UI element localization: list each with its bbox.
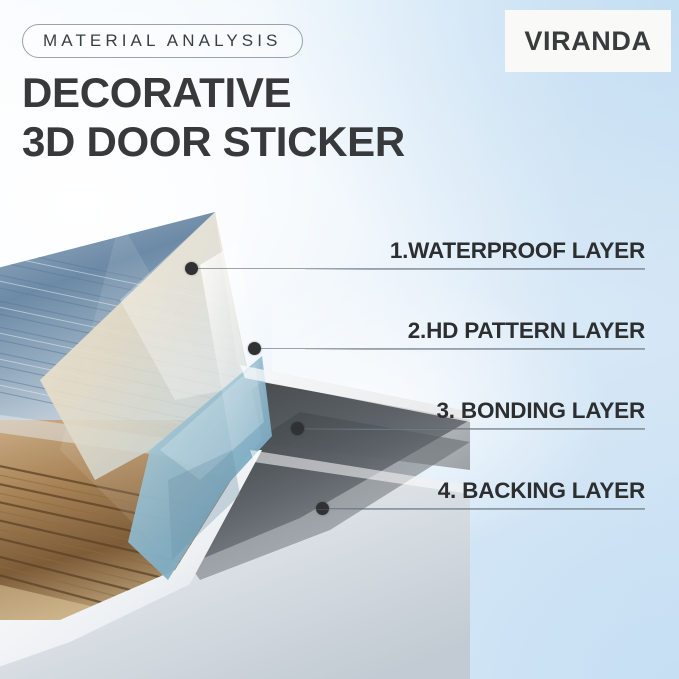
callout-rule-2 bbox=[305, 349, 645, 350]
callout-bonding-layer: 3. BONDING LAYER bbox=[305, 398, 645, 430]
callout-rule-1 bbox=[305, 269, 645, 270]
callout-label-3: 3. BONDING LAYER bbox=[305, 398, 645, 429]
callout-waterproof-layer: 1.WATERPROOF LAYER bbox=[305, 238, 645, 270]
callout-dot-3 bbox=[291, 422, 304, 435]
callout-hd-pattern-layer: 2.HD PATTERN LAYER bbox=[305, 318, 645, 350]
callout-dot-2 bbox=[248, 342, 261, 355]
callout-label-1: 1.WATERPROOF LAYER bbox=[305, 238, 645, 269]
callout-rule-4 bbox=[305, 509, 645, 510]
callout-label-4: 4. BACKING LAYER bbox=[305, 478, 645, 509]
callout-dot-1 bbox=[185, 262, 198, 275]
callout-group: 1.WATERPROOF LAYER 2.HD PATTERN LAYER 3.… bbox=[0, 0, 679, 679]
infographic-poster: MATERIAL ANALYSIS DECORATIVE 3D DOOR STI… bbox=[0, 0, 679, 679]
callout-rule-3 bbox=[305, 429, 645, 430]
callout-label-2: 2.HD PATTERN LAYER bbox=[305, 318, 645, 349]
callout-backing-layer: 4. BACKING LAYER bbox=[305, 478, 645, 510]
